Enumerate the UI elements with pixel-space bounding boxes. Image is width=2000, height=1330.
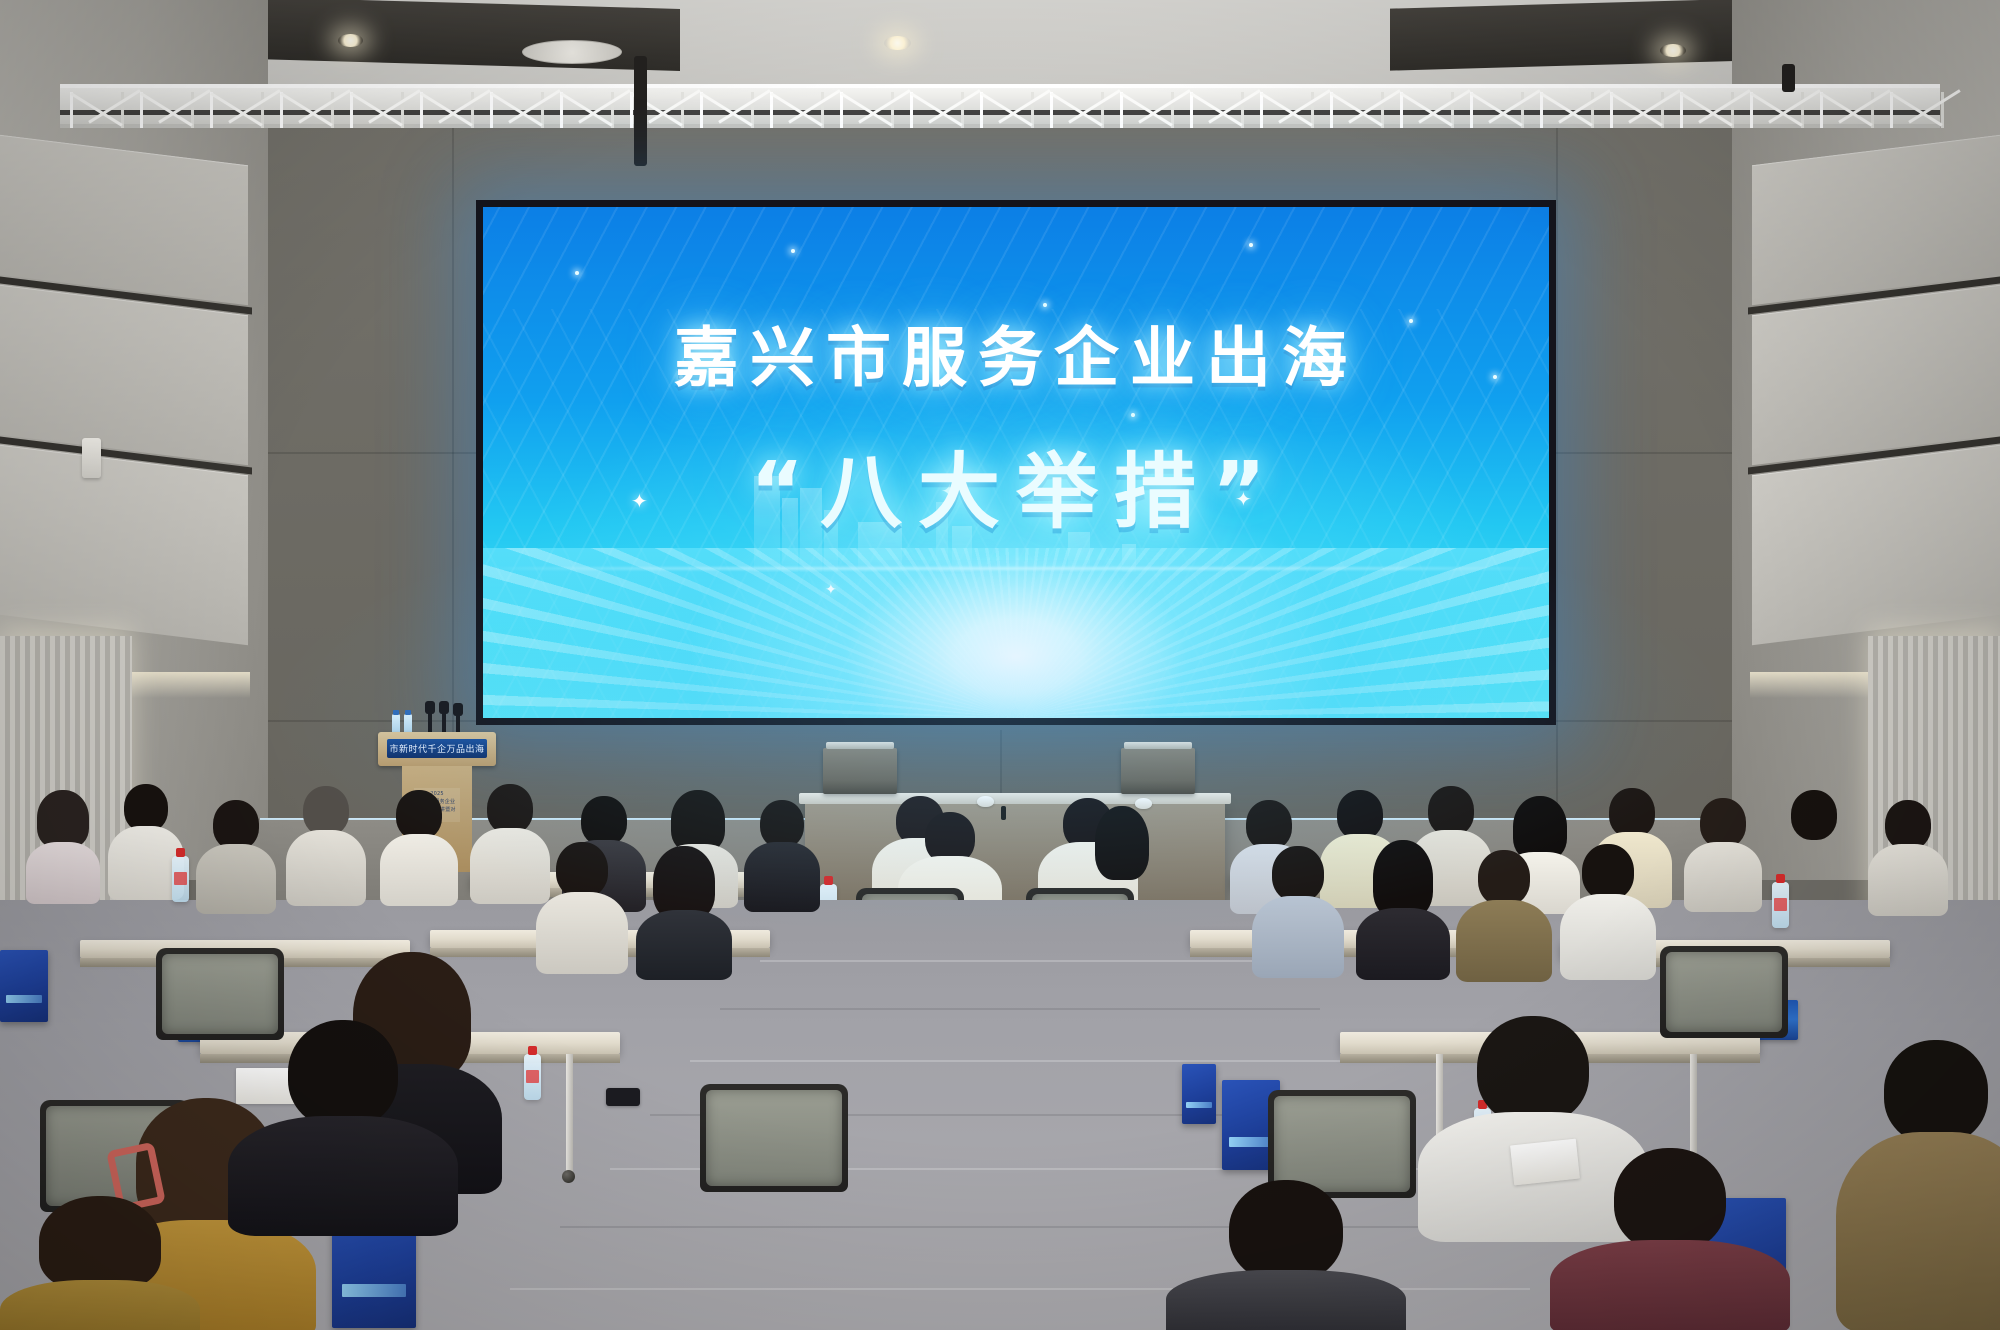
truss-brace [490,92,544,128]
attendee-head [1477,1016,1589,1124]
wall-panel [1752,445,2000,645]
truss-brace [140,92,194,128]
ceiling-vent [522,40,622,64]
attendee-hair [1095,806,1149,880]
attendee-head [1885,800,1931,850]
audience-member [26,790,100,898]
audience-member [636,846,732,974]
screen-text-block: 嘉兴市服务企业出海 “八大举措” [483,207,1549,718]
ceiling-downlight [338,34,363,47]
truss-brace [1680,92,1734,128]
wall-panel [1752,285,2000,465]
attendee-head [1791,790,1837,840]
chair-mesh [1666,952,1782,1032]
audience-member [380,790,458,902]
floor-plank-line [720,1008,1320,1010]
truss-brace [560,92,614,128]
attendee-head [124,784,168,832]
attendee-head [1272,846,1324,902]
attendee-hair [653,846,715,920]
wall-panel [0,285,248,465]
podium-water-bottle [392,714,400,734]
ceiling-downlight [1660,44,1686,57]
truss-brace [1820,92,1874,128]
podium-sign: 市新时代千企万品出海 [387,739,487,758]
attendee-body [1684,842,1762,912]
desk-papers [1510,1139,1580,1186]
screen-headline: 嘉兴市服务企业出海 [674,305,1358,399]
truss-brace [420,92,474,128]
attendee-body [1560,894,1656,980]
attendee-hair [1373,840,1433,918]
attendee-head [760,800,804,848]
desk-caster [562,1170,575,1183]
chair-mesh [1274,1096,1410,1192]
tote-label [1186,1102,1212,1109]
attendee-hair [37,790,89,848]
attendee-head [396,790,442,840]
audience-member [286,786,366,902]
attendee-body [1356,908,1450,980]
audience-member [744,800,820,908]
audience-member [1356,840,1450,972]
head-table-monitor [823,748,897,794]
audience-member [1252,846,1344,972]
smartphone[interactable] [606,1088,640,1106]
audience-member [1560,844,1656,974]
audience-chair [1660,946,1788,1038]
truss-brace [700,92,754,128]
attendee-body [1836,1132,2000,1330]
podium-microphone [428,708,432,734]
attendee-head [1609,788,1655,838]
truss-brace [1610,92,1664,128]
attendee-head [303,786,349,836]
attendee-head [1614,1148,1726,1252]
attendee-head [1337,790,1383,840]
truss-brace [1190,92,1244,128]
attendee-body [1166,1270,1406,1330]
lighting-truss [60,84,1940,128]
attendee-body [196,844,276,914]
attendee-body [636,910,732,980]
attendee-head [1884,1040,1988,1144]
audience-member-foreground [228,1020,458,1220]
truss-brace [1260,92,1314,128]
attendee-head [1428,786,1474,836]
attendee-head [1246,800,1292,850]
podium-microphone [442,708,446,734]
attendee-head [581,796,627,846]
tote-label [6,995,42,1003]
attendee-body [286,830,366,906]
truss-brace [1330,92,1384,128]
chair-mesh [706,1090,842,1186]
attendee-head [1582,844,1634,900]
audience-member-foreground [1166,1180,1406,1330]
water-bottle [1772,882,1789,928]
tote-label [1229,1137,1273,1147]
water-bottle [524,1054,541,1100]
attendee-body [536,892,628,974]
attendee-head [1478,850,1530,906]
truss-brace [1890,92,1944,128]
conference-tote-bag [1182,1064,1216,1124]
podium-microphone [456,710,460,734]
truss-brace [210,92,264,128]
truss-brace [1050,92,1104,128]
attendee-body [1456,900,1552,982]
screen-subheadline: “八大举措” [750,425,1282,544]
attendee-body [0,1280,200,1330]
truss-brace [1120,92,1174,128]
truss-rigging-drop [634,56,647,166]
attendee-body [26,842,100,904]
head-table-monitor [1121,748,1195,794]
truss-brace [1750,92,1804,128]
podium-water-bottle [404,714,412,734]
desk-leg [566,1054,573,1174]
head-table-teacup [977,796,994,807]
led-display-screen: ✦ ✦ ✦ ✦ 嘉兴市服务企业出海 “八大举措” [476,200,1556,725]
truss-brace [1540,92,1594,128]
screen-surface: ✦ ✦ ✦ ✦ 嘉兴市服务企业出海 “八大举措” [483,207,1549,718]
conference-hall-scene: ✦ ✦ ✦ ✦ 嘉兴市服务企业出海 “八大举措” 市新时代千企万品出海 [0,0,2000,1330]
audience-member [1868,800,1948,912]
audience-member [196,800,276,910]
truss-brace [1470,92,1524,128]
truss-brace [980,92,1034,128]
truss-brace [770,92,824,128]
tote-label [342,1284,406,1297]
truss-brace [70,92,124,128]
floor-plank-line [760,960,1280,962]
conference-tote-bag [0,950,48,1022]
attendee-hair [39,1196,161,1290]
attendee-body [1868,844,1948,916]
audience-member-foreground [1836,1040,2000,1330]
attendee-head [288,1020,398,1128]
audience-member [536,842,628,968]
truss-brace [1400,92,1454,128]
audience-member-foreground [0,1196,200,1330]
attendee-head [1700,798,1746,848]
audience-member-foreground [1550,1148,1790,1330]
attendee-body [744,842,820,912]
attendee-body [1550,1240,1790,1330]
attendee-head [1229,1180,1343,1282]
attendee-body [228,1116,458,1236]
wall-intercom [82,438,101,478]
truss-rigging-drop [1782,64,1795,92]
attendee-head [487,784,533,834]
audience-member [1456,850,1552,976]
attendee-head [213,800,259,850]
audience-member [1684,798,1762,908]
wall-seam [1556,96,1558,876]
truss-brace [910,92,964,128]
truss-brace [840,92,894,128]
attendee-head [556,842,608,898]
head-table-top [799,793,1231,804]
audience-chair [700,1084,848,1192]
truss-brace [280,92,334,128]
ceiling-downlight [884,36,911,50]
floor-plank-line [690,1060,1350,1062]
wall-panel [0,445,248,645]
truss-brace [350,92,404,128]
water-bottle [172,856,189,902]
attendee-body [1252,896,1344,978]
attendee-hair [671,790,725,852]
attendee-body [380,834,458,906]
